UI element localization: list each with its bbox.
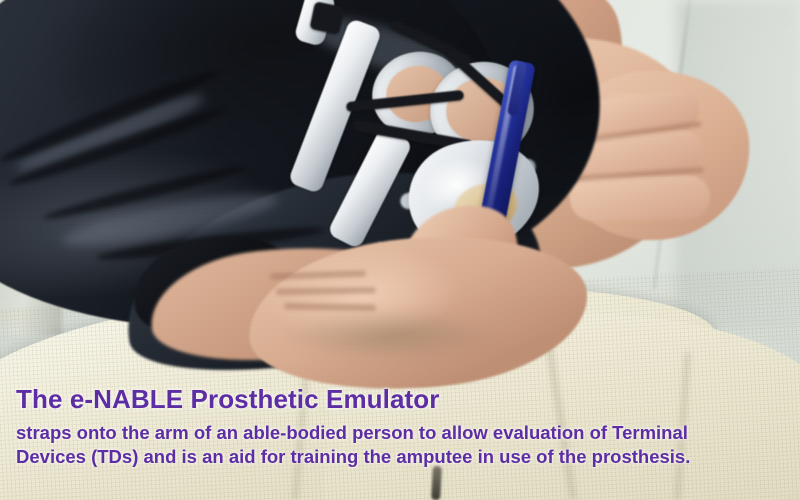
caption-overlay: The e-NABLE Prosthetic Emulator straps o… xyxy=(0,382,800,500)
emulator-strap xyxy=(309,1,344,35)
caption-line-2: Devices (TDs) and is an aid for training… xyxy=(16,446,690,468)
screenshot-root: The e-NABLE Prosthetic Emulator straps o… xyxy=(0,0,800,500)
towel-shadow xyxy=(240,300,540,370)
caption-title: The e-NABLE Prosthetic Emulator xyxy=(16,384,440,415)
caption-line-1: straps onto the arm of an able-bodied pe… xyxy=(16,422,688,444)
finger xyxy=(570,175,711,221)
